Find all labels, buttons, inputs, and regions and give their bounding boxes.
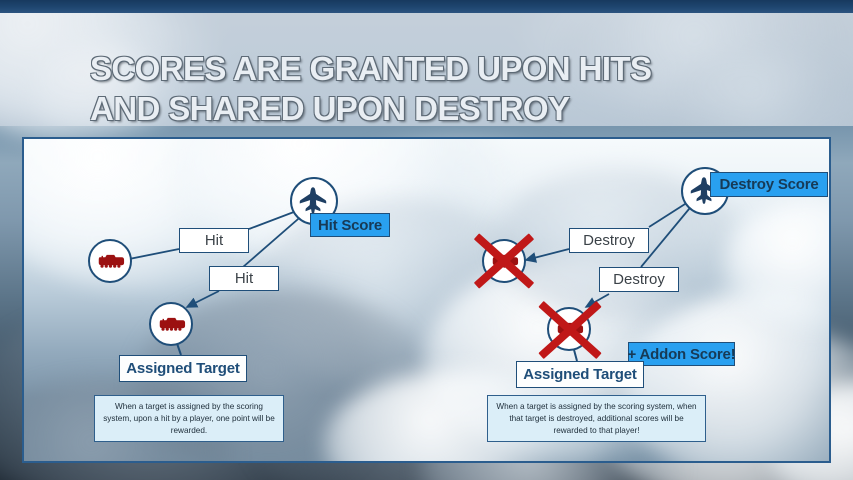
tank-icon: [489, 246, 519, 276]
right-destroy-score-badge[interactable]: Destroy Score: [710, 172, 828, 197]
title-line-2: AND SHARED UPON DESTROY: [90, 89, 790, 129]
left-target-node-2[interactable]: [149, 302, 193, 346]
right-target-node-1[interactable]: [482, 239, 526, 283]
page-title: SCORES ARE GRANTED UPON HITS AND SHARED …: [90, 49, 790, 130]
top-accent-bar: [0, 0, 853, 13]
right-edge-label-destroy-lower[interactable]: Destroy: [599, 267, 679, 292]
right-edge-label-destroy-upper[interactable]: Destroy: [569, 228, 649, 253]
tank-icon: [156, 309, 186, 339]
left-caption-box: When a target is assigned by the scoring…: [94, 395, 284, 442]
diagram-frame: Hit Score Hit Hit: [22, 137, 831, 463]
right-target-node-2[interactable]: [547, 307, 591, 351]
title-line-1: SCORES ARE GRANTED UPON HITS: [90, 49, 790, 89]
left-edge-label-hit-lower[interactable]: Hit: [209, 266, 279, 291]
presentation-slide: SCORES ARE GRANTED UPON HITS AND SHARED …: [0, 0, 853, 480]
right-addon-score-badge[interactable]: + Addon Score!: [628, 342, 735, 366]
left-assigned-target-label[interactable]: Assigned Target: [119, 355, 247, 382]
right-assigned-target-label[interactable]: Assigned Target: [516, 361, 644, 388]
right-caption-box: When a target is assigned by the scoring…: [487, 395, 706, 442]
left-target-node-1[interactable]: [88, 239, 132, 283]
tank-icon: [554, 314, 584, 344]
left-hit-score-badge[interactable]: Hit Score: [310, 213, 390, 237]
tank-icon: [95, 246, 125, 276]
left-edge-label-hit-upper[interactable]: Hit: [179, 228, 249, 253]
